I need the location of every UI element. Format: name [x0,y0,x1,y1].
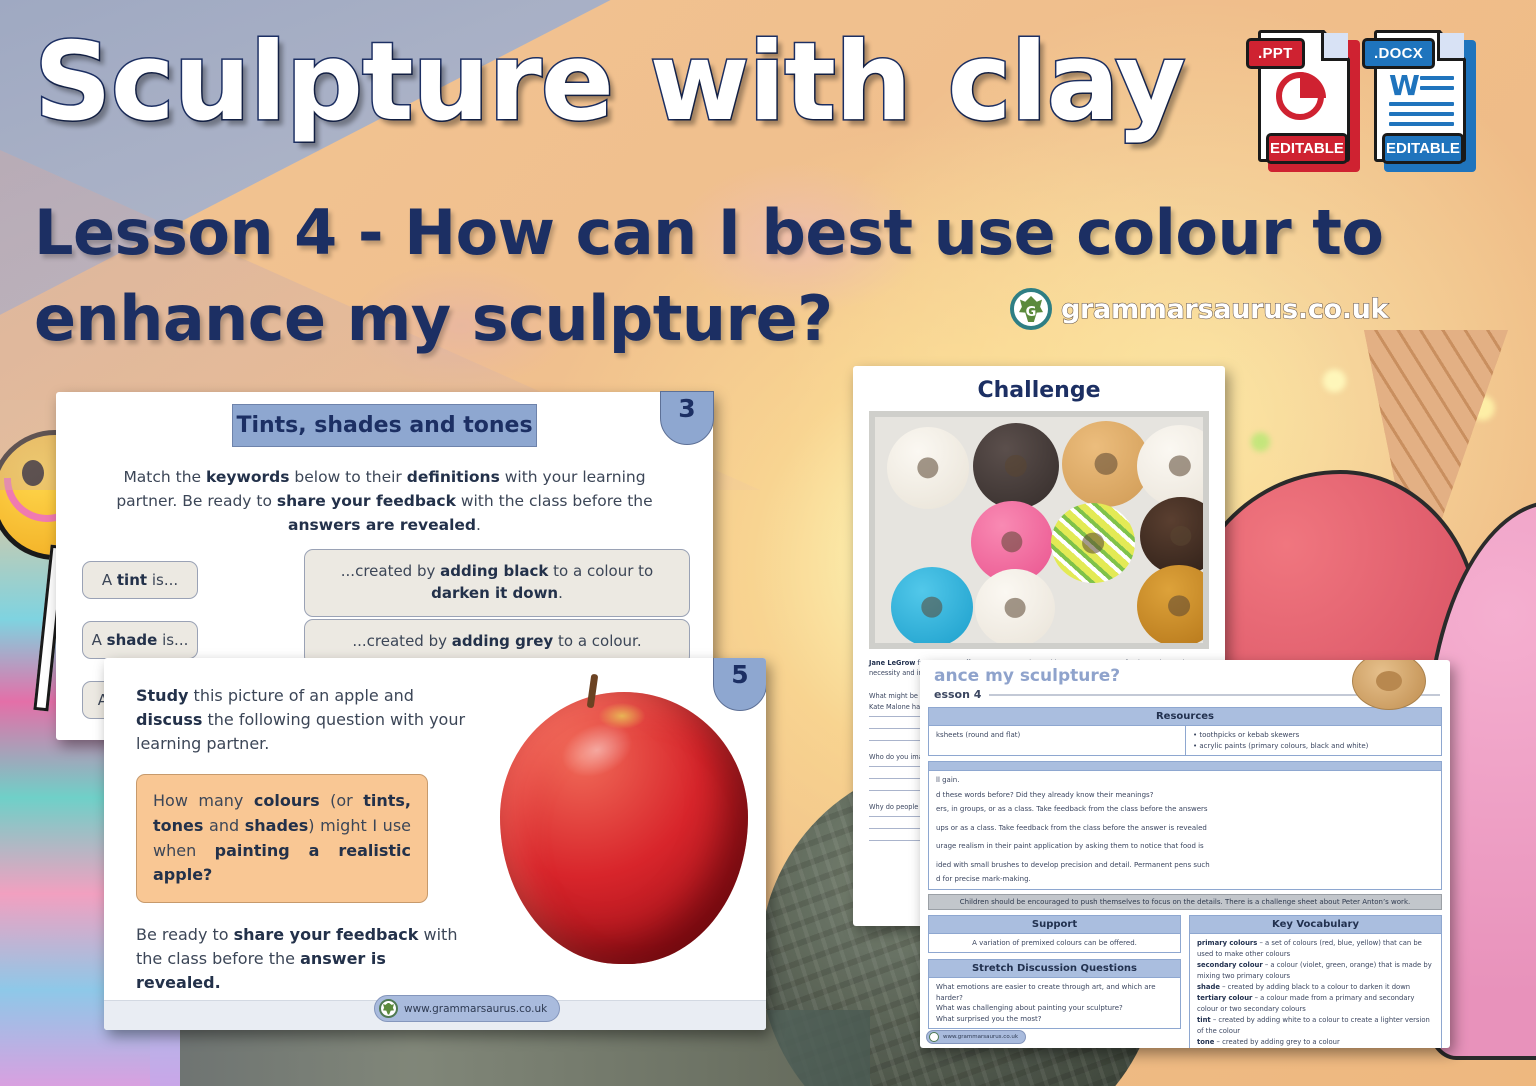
support-stretch-column: Support A variation of premixed colours … [928,915,1181,1049]
slide-title: Tints, shades and tones [232,404,537,447]
instr-part-4: with the class before the [456,492,653,510]
definition-card-black[interactable]: ...created by adding black to a colour t… [304,549,690,617]
slide-feedback-text: Be ready to share your feedback with the… [136,923,466,995]
worksheet-title: Challenge [869,378,1209,403]
stretch-table: Stretch Discussion Questions What emotio… [928,959,1181,1029]
word-w-icon: W [1389,72,1420,100]
dark-chocolate-donut [973,423,1059,509]
vocabulary-column: Key Vocabulary primary colours – a set o… [1189,915,1442,1049]
stretch-item: What surprised you the most? [929,1014,1180,1029]
slide-instruction-text: Match the keywords below to their defini… [92,465,677,537]
resources-header: Resources [929,708,1441,726]
grammarsaurus-mark-icon [929,1032,939,1042]
ppt-extension-label: .PPT [1246,38,1305,69]
lesson-steps-header [929,762,1441,771]
instr-keyword-1: keywords [206,468,289,486]
instr-part-1: Match the [123,468,206,486]
lesson-plan-note: Children should be encouraged to push th… [928,894,1442,910]
lesson-step: d these words before? Did they already k… [929,790,1441,805]
lesson-step: ers, in groups, or as a class. Take feed… [929,804,1441,819]
docx-editable-label: EDITABLE [1382,133,1464,164]
vocab-entry: shade – created by adding black to a col… [1197,982,1434,993]
lesson-step: urage realism in their paint application… [929,837,1441,856]
lesson-step: ll gain. [929,771,1441,790]
vocab-entry: secondary colour – a colour (violet, gre… [1197,960,1434,982]
instr-part-2: below to their [289,468,406,486]
chocolate-iced-donut [1140,497,1209,575]
docx-extension-label: .DOCX [1362,38,1435,69]
lesson-plan-sheet[interactable]: ance my sculpture? esson 4 Resources ksh… [920,660,1450,1048]
vocab-header: Key Vocabulary [1190,916,1441,934]
docx-editable-badge[interactable]: W .DOCX EDITABLE [1374,30,1474,172]
vocab-entry: primary colours – a set of colours (red,… [1197,938,1434,960]
powdered-white-donut [887,427,969,509]
grammarsaurus-logo[interactable]: G grammarsaurus.co.uk [1010,288,1388,330]
instr-keyword-4: answers are revealed [288,516,476,534]
lesson-plan-header: ance my sculpture? esson 4 [920,660,1450,703]
lesson-plan-footer-url: www.grammarsaurus.co.uk [943,1034,1018,1040]
powdered-donut-two [975,569,1055,647]
instr-keyword-3: share your feedback [277,492,456,510]
stretch-item: What was challenging about painting your… [929,1003,1180,1014]
lesson-step: d for precise mark-making. [929,874,1441,889]
green-striped-donut [1051,503,1135,583]
lesson-plan-lesson-label: esson 4 [934,688,981,701]
resources-right-cell: • toothpicks or kebab skewers • acrylic … [1185,726,1441,755]
lesson-step: ups or as a class. Take feedback from th… [929,819,1441,838]
support-table: Support A variation of premixed colours … [928,915,1181,954]
lesson-plan-footer-badge[interactable]: www.grammarsaurus.co.uk [926,1030,1026,1044]
page-subtitle: Lesson 4 - How can I best use colour to … [34,190,1474,361]
slide-footer-url: www.grammarsaurus.co.uk [404,1003,547,1015]
vocab-entry: tint – created by adding white to a colo… [1197,1015,1434,1037]
keyword-card-tint[interactable]: A tint is... [82,561,198,599]
page-fold-corner-icon [1437,33,1464,61]
discussion-question-box: How many colours (or tints, tones and sh… [136,774,428,903]
slide-footer-badge[interactable]: www.grammarsaurus.co.uk [374,995,560,1022]
slide-page-number: 5 [713,658,766,711]
instr-keyword-2: definitions [407,468,500,486]
ppt-editable-badge[interactable]: .PPT EDITABLE [1258,30,1358,172]
support-text: A variation of premixed colours can be o… [929,934,1180,953]
support-header: Support [929,916,1180,934]
grammarsaurus-mark-icon [379,999,398,1018]
donut-box-photo [869,411,1209,649]
lesson-steps-table: ll gain. d these words before? Did they … [928,761,1442,890]
slide-instruction-text: Study this picture of an apple and discu… [136,684,466,756]
slide-apple-question[interactable]: 5 Study this picture of an apple and dis… [104,658,766,1030]
stretch-item: What emotions are easier to create throu… [929,978,1180,1003]
apple-photo [500,692,748,964]
grammarsaurus-mark-icon: G [1010,288,1052,330]
page-fold-corner-icon [1321,33,1348,61]
lesson-plan-lower-columns: Support A variation of premixed colours … [928,915,1442,1049]
key-vocabulary-table: Key Vocabulary primary colours – a set o… [1189,915,1442,1049]
vocab-entry: tone – created by adding grey to a colou… [1197,1037,1434,1048]
ppt-editable-label: EDITABLE [1266,133,1348,164]
powdered-sugar-donut [1137,425,1209,507]
slide-page-number: 3 [660,391,714,445]
plain-ring-donut [1137,565,1209,647]
instr-part-5: . [476,516,481,534]
donut-thumbnail-icon [1352,660,1426,710]
logo-initial: G [1026,305,1037,320]
stretch-header: Stretch Discussion Questions [929,960,1180,978]
file-format-badges: .PPT EDITABLE W .DOCX EDITABLE [1258,30,1474,172]
blue-sprinkle-donut [891,567,973,647]
page-title: Sculpture with clay [34,26,1185,139]
resources-left-cell: ksheets (round and flat) [929,726,1185,755]
vocab-entry: tertiary colour – a colour made from a p… [1197,993,1434,1015]
brand-url: grammarsaurus.co.uk [1061,294,1388,325]
resources-table: Resources ksheets (round and flat) • too… [928,707,1442,756]
lesson-step: ided with small brushes to develop preci… [929,856,1441,875]
keyword-card-shade[interactable]: A shade is... [82,621,198,659]
